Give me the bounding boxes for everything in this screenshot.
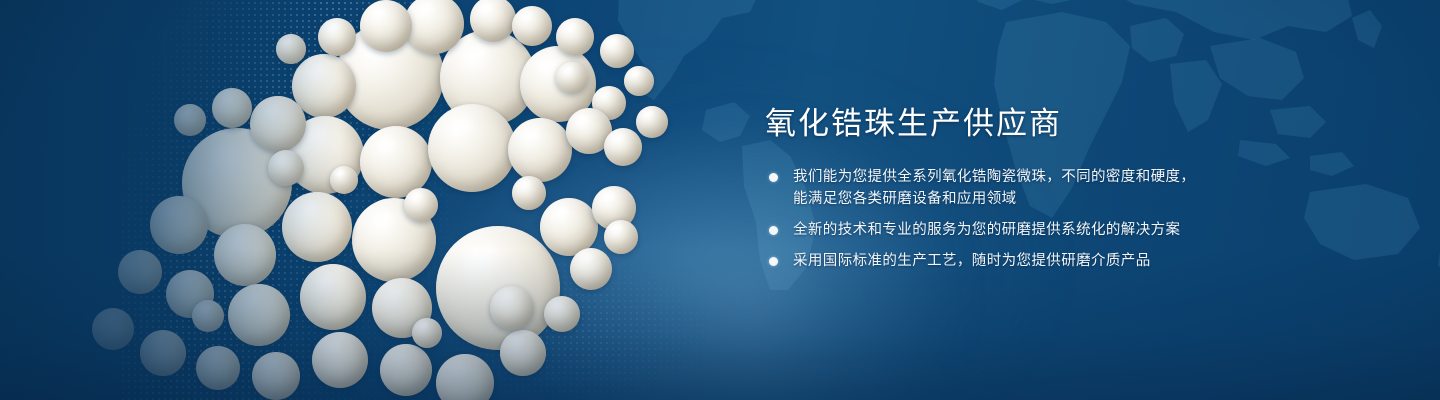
benefits-list: 我们能为您提供全系列氧化锆陶瓷微珠，不同的密度和硬度， 能满足您各类研磨设备和应… <box>765 166 1385 272</box>
list-item-line: 全新的技术和专业的服务为您的研磨提供系统化的解决方案 <box>793 219 1385 241</box>
list-item: 全新的技术和专业的服务为您的研磨提供系统化的解决方案 <box>765 219 1385 241</box>
list-item-line: 我们能为您提供全系列氧化锆陶瓷微珠，不同的密度和硬度， <box>793 166 1385 188</box>
hero-banner: 氧化锆珠生产供应商 我们能为您提供全系列氧化锆陶瓷微珠，不同的密度和硬度， 能满… <box>0 0 1440 400</box>
bullet-dot-icon <box>769 257 778 266</box>
bullet-dot-icon <box>769 226 778 235</box>
list-item: 采用国际标准的生产工艺，随时为您提供研磨介质产品 <box>765 250 1385 272</box>
list-item-line: 采用国际标准的生产工艺，随时为您提供研磨介质产品 <box>793 250 1385 272</box>
bullet-dot-icon <box>769 173 778 182</box>
banner-content: 氧化锆珠生产供应商 我们能为您提供全系列氧化锆陶瓷微珠，不同的密度和硬度， 能满… <box>765 104 1385 272</box>
list-item-line: 能满足您各类研磨设备和应用领域 <box>793 188 1385 210</box>
list-item: 我们能为您提供全系列氧化锆陶瓷微珠，不同的密度和硬度， 能满足您各类研磨设备和应… <box>765 166 1385 210</box>
banner-headline: 氧化锆珠生产供应商 <box>765 104 1385 144</box>
